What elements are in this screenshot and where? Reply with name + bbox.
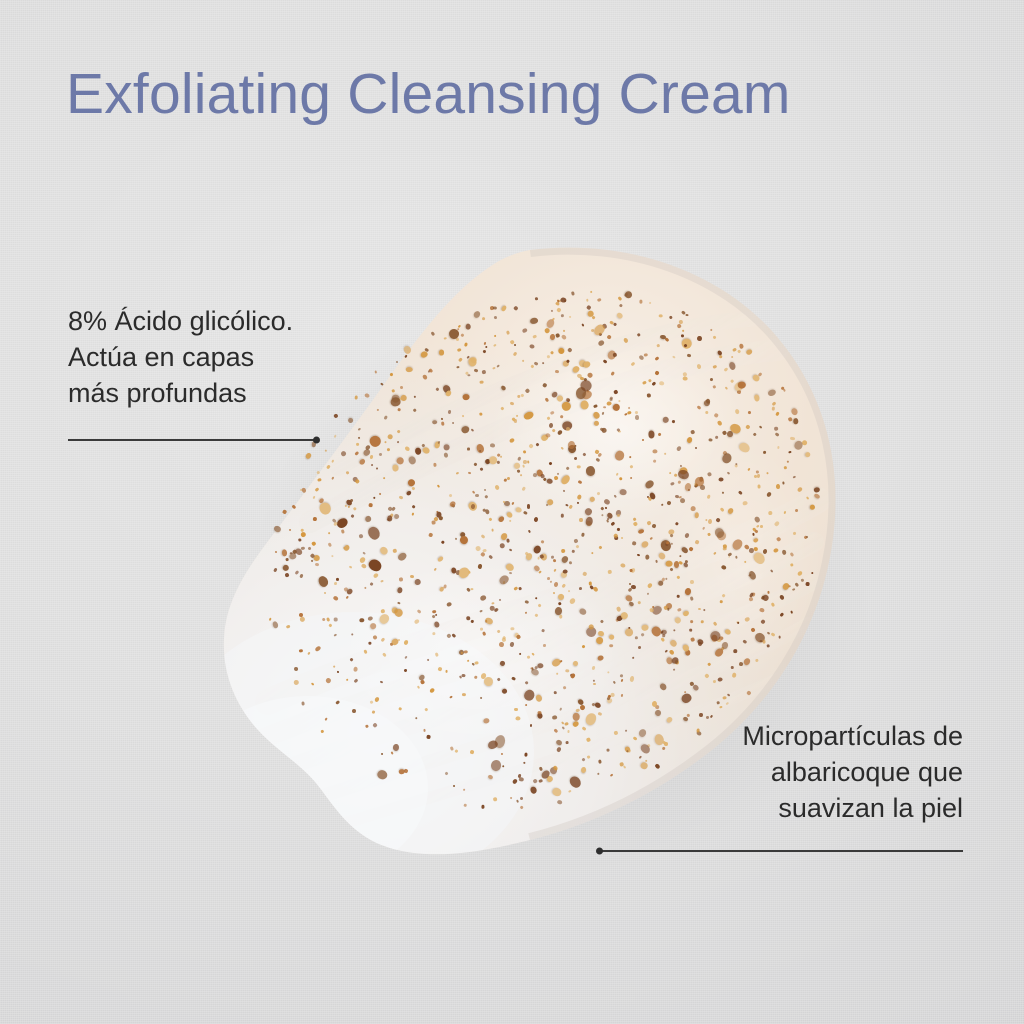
annotation-line: Actúa en capas	[68, 339, 368, 375]
annotation-line: Micropartículas de	[563, 718, 963, 754]
product-graphic-canvas: Exfoliating Cleansing Cream 8% Ácido gli…	[0, 0, 1024, 1024]
annotation-line: 8% Ácido glicólico.	[68, 303, 368, 339]
background-surface	[0, 0, 1024, 1024]
page-title: Exfoliating Cleansing Cream	[66, 63, 791, 126]
leader-rule-right	[598, 850, 963, 852]
leader-dot-icon	[596, 848, 603, 855]
annotation-glycolic-acid: 8% Ácido glicólico. Actúa en capas más p…	[68, 303, 368, 411]
annotation-line: albaricoque que	[563, 754, 963, 790]
leader-rule-left	[68, 439, 318, 441]
leader-dot-icon	[313, 437, 320, 444]
annotation-line: más profundas	[68, 375, 368, 411]
annotation-apricot-microparticles: Micropartículas de albaricoque que suavi…	[563, 718, 963, 826]
annotation-line: suavizan la piel	[563, 790, 963, 826]
